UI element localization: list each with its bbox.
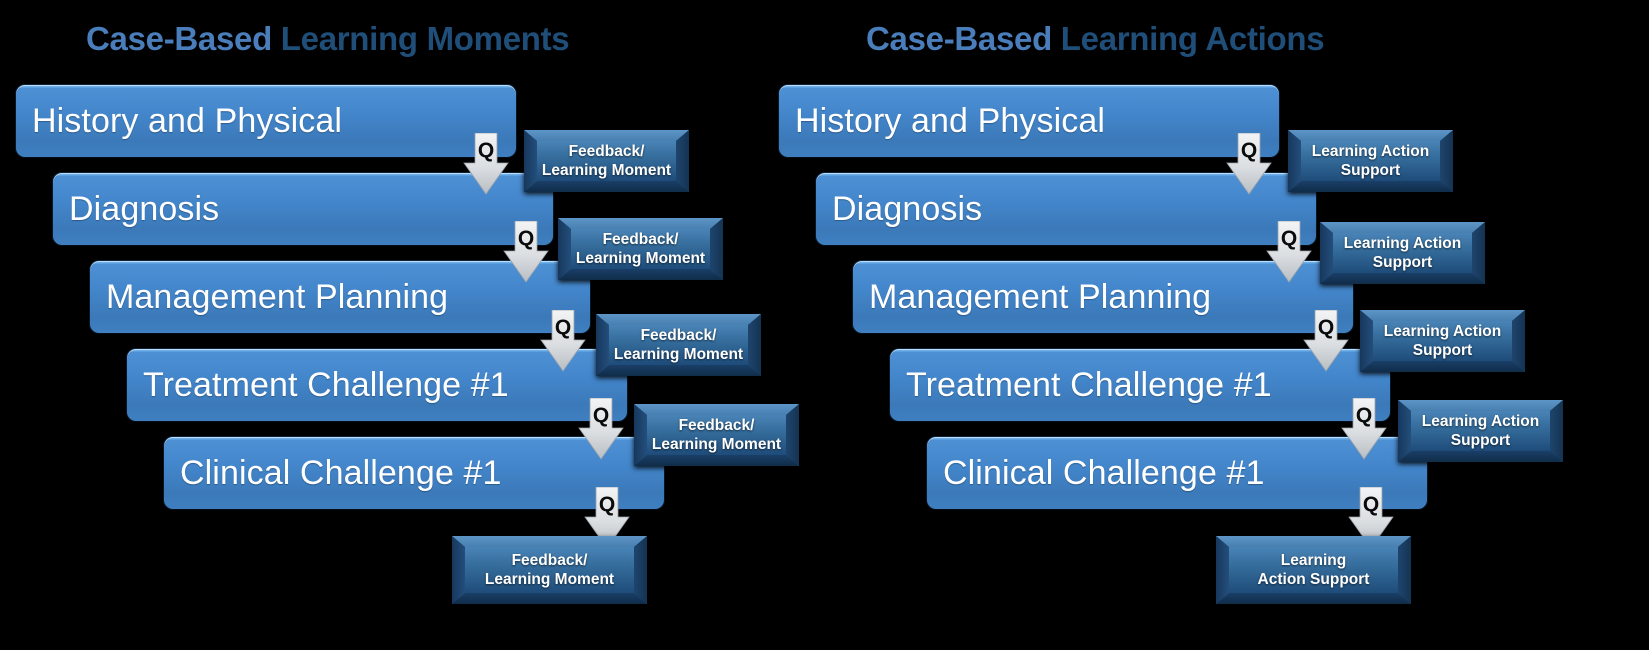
bevel-edge-icon	[596, 365, 761, 376]
bevel-edge-icon	[1320, 273, 1485, 284]
question-arrow-icon[interactable]: Q	[1226, 133, 1272, 195]
callout-box[interactable]: Feedback/ Learning Moment	[524, 130, 689, 192]
process-step-label: Management Planning	[853, 278, 1211, 317]
bevel-edge-icon	[1216, 536, 1229, 604]
down-arrow-icon	[1303, 310, 1349, 372]
question-arrow-icon[interactable]: Q	[578, 398, 624, 460]
title-suffix: Learning Moments	[281, 20, 570, 57]
column-title-left: Case-Based Learning Moments	[86, 22, 569, 55]
bevel-edge-icon	[452, 536, 647, 547]
bevel-edge-icon	[1398, 536, 1411, 604]
question-arrow-icon[interactable]: Q	[1303, 310, 1349, 372]
callout-label: Learning Action Support	[1416, 412, 1545, 451]
callout-label: Feedback/ Learning Moment	[479, 551, 620, 590]
bevel-edge-icon	[452, 536, 465, 604]
column-title-right: Case-Based Learning Actions	[866, 22, 1324, 55]
bevel-edge-icon	[1216, 593, 1411, 604]
callout-box[interactable]: Learning Action Support	[1216, 536, 1411, 604]
process-step-label: Clinical Challenge #1	[927, 454, 1265, 493]
callout-box[interactable]: Feedback/ Learning Moment	[596, 314, 761, 376]
down-arrow-icon	[1341, 398, 1387, 460]
callout-box[interactable]: Learning Action Support	[1360, 310, 1525, 372]
callout-box[interactable]: Learning Action Support	[1320, 222, 1485, 284]
bevel-edge-icon	[1288, 181, 1453, 192]
question-arrow-icon[interactable]: Q	[1341, 398, 1387, 460]
question-arrow-icon[interactable]: Q	[463, 133, 509, 195]
bevel-edge-icon	[524, 181, 689, 192]
title-prefix: Case-Based	[86, 20, 281, 57]
bevel-edge-icon	[1398, 451, 1563, 462]
process-step-label: History and Physical	[779, 102, 1105, 141]
bevel-edge-icon	[1398, 400, 1563, 411]
bevel-edge-icon	[558, 218, 723, 229]
process-step-label: History and Physical	[16, 102, 342, 141]
process-step-label: Treatment Challenge #1	[127, 366, 509, 405]
callout-label: Learning Action Support	[1378, 322, 1507, 361]
down-arrow-icon	[578, 398, 624, 460]
callout-label: Feedback/ Learning Moment	[536, 142, 677, 181]
bevel-edge-icon	[524, 130, 689, 141]
callout-box[interactable]: Learning Action Support	[1288, 130, 1453, 192]
question-arrow-icon[interactable]: Q	[1266, 221, 1312, 283]
process-step[interactable]: History and Physical	[779, 85, 1279, 157]
process-step-label: Clinical Challenge #1	[164, 454, 502, 493]
bevel-edge-icon	[634, 536, 647, 604]
bevel-edge-icon	[596, 314, 761, 325]
down-arrow-icon	[540, 310, 586, 372]
question-arrow-icon[interactable]: Q	[540, 310, 586, 372]
callout-box[interactable]: Feedback/ Learning Moment	[634, 404, 799, 466]
callout-label: Feedback/ Learning Moment	[570, 230, 711, 269]
bevel-edge-icon	[1360, 310, 1525, 321]
callout-box[interactable]: Feedback/ Learning Moment	[558, 218, 723, 280]
bevel-edge-icon	[634, 404, 799, 415]
callout-box[interactable]: Feedback/ Learning Moment	[452, 536, 647, 604]
title-prefix: Case-Based	[866, 20, 1061, 57]
bevel-edge-icon	[1288, 130, 1453, 141]
process-step[interactable]: History and Physical	[16, 85, 516, 157]
question-arrow-icon[interactable]: Q	[503, 221, 549, 283]
down-arrow-icon	[463, 133, 509, 195]
callout-label: Learning Action Support	[1338, 234, 1467, 273]
down-arrow-icon	[503, 221, 549, 283]
bevel-edge-icon	[1216, 536, 1411, 547]
callout-label: Learning Action Support	[1252, 551, 1376, 590]
bevel-edge-icon	[452, 593, 647, 604]
process-step-label: Diagnosis	[816, 190, 982, 229]
callout-label: Feedback/ Learning Moment	[646, 416, 787, 455]
bevel-edge-icon	[1360, 361, 1525, 372]
down-arrow-icon	[1266, 221, 1312, 283]
callout-label: Learning Action Support	[1306, 142, 1435, 181]
process-step-label: Management Planning	[90, 278, 448, 317]
bevel-edge-icon	[558, 269, 723, 280]
process-step-label: Treatment Challenge #1	[890, 366, 1272, 405]
title-suffix: Learning Actions	[1061, 20, 1325, 57]
callout-label: Feedback/ Learning Moment	[608, 326, 749, 365]
diagram-canvas: Case-Based Learning MomentsHistory and P…	[0, 0, 1649, 650]
bevel-edge-icon	[1320, 222, 1485, 233]
bevel-edge-icon	[634, 455, 799, 466]
down-arrow-icon	[1226, 133, 1272, 195]
process-step-label: Diagnosis	[53, 190, 219, 229]
callout-box[interactable]: Learning Action Support	[1398, 400, 1563, 462]
